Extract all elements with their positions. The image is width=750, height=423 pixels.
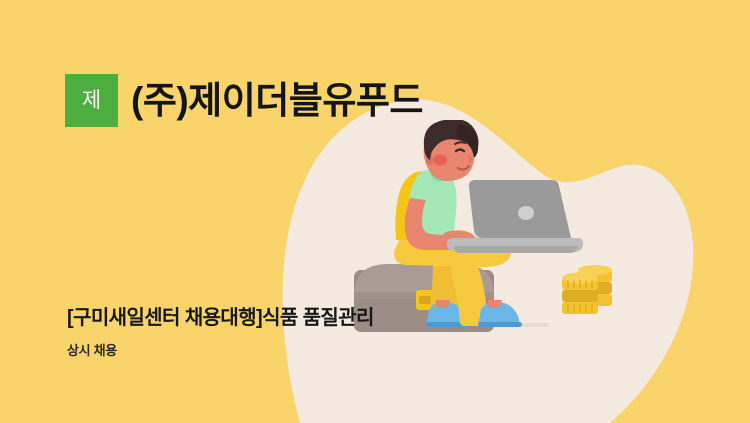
man-working-on-laptop-illustration [330,120,660,350]
job-subtitle: 상시 채용 [67,343,374,359]
coin-stack-icon [562,265,612,314]
job-info: [구미새일센터 채용대행]식품 품질관리 상시 채용 [67,306,374,359]
background-blob [0,0,750,423]
job-posting-card: 제 (주)제이더블유푸드 [구미새일센터 채용대행]식품 품질관리 상시 채용 [0,0,750,423]
shoe-icon-back [426,300,470,327]
company-logo-badge: 제 [65,74,118,127]
briefcase-icon [354,246,494,332]
job-title: [구미새일센터 채용대행]식품 품질관리 [67,306,374,331]
head [424,120,479,181]
laptop-icon [447,180,583,253]
company-header: 제 (주)제이더블유푸드 [65,74,423,127]
company-name: (주)제이더블유푸드 [131,82,423,119]
shoe-icon-front [478,300,522,327]
company-logo-initial: 제 [82,90,101,111]
